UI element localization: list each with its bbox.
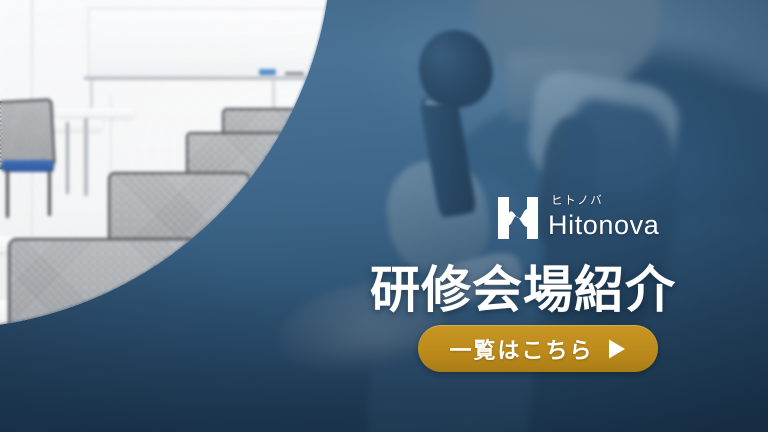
brand-kana: ヒトノバ <box>551 196 659 208</box>
banner-content: ヒトノバ Hitonova 研修会場紹介 一覧はこちら <box>348 0 768 432</box>
view-list-button[interactable]: 一覧はこちら <box>418 325 658 372</box>
view-list-button-label: 一覧はこちら <box>449 333 593 365</box>
banner-stage: ヒトノバ Hitonova 研修会場紹介 一覧はこちら <box>0 0 768 432</box>
brand-name: Hitonova <box>548 212 659 239</box>
hitonova-h-logo-mark <box>498 197 538 239</box>
brand-logo[interactable]: ヒトノバ Hitonova <box>498 196 659 239</box>
play-triangle-icon <box>606 338 627 360</box>
page-title: 研修会場紹介 <box>348 250 698 322</box>
brand-wordmark: ヒトノバ Hitonova <box>548 196 659 239</box>
